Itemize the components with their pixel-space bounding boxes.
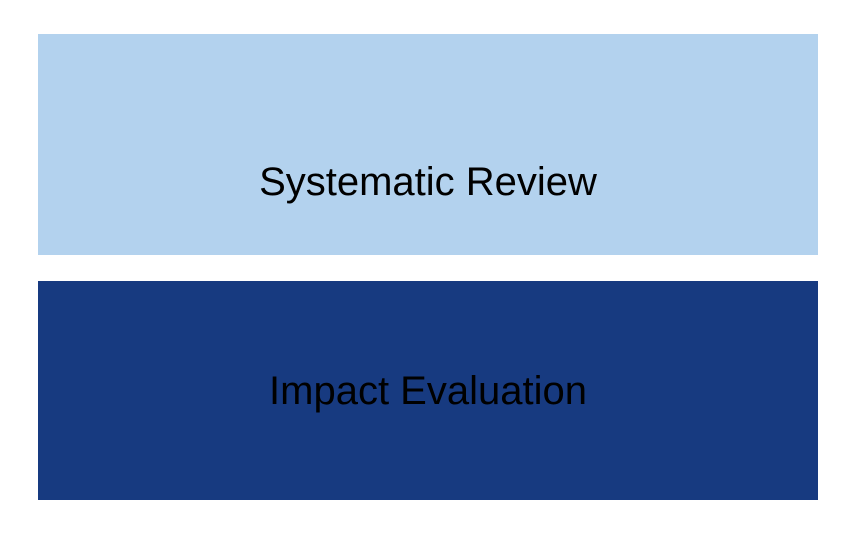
- band-impact-evaluation-label: Impact Evaluation: [38, 371, 818, 411]
- band-systematic-review[interactable]: Systematic Review: [38, 34, 818, 255]
- band-impact-evaluation[interactable]: Impact Evaluation: [38, 281, 818, 500]
- band-systematic-review-label: Systematic Review: [38, 162, 818, 202]
- diagram-canvas: Systematic Review Impact Evaluation: [0, 0, 857, 537]
